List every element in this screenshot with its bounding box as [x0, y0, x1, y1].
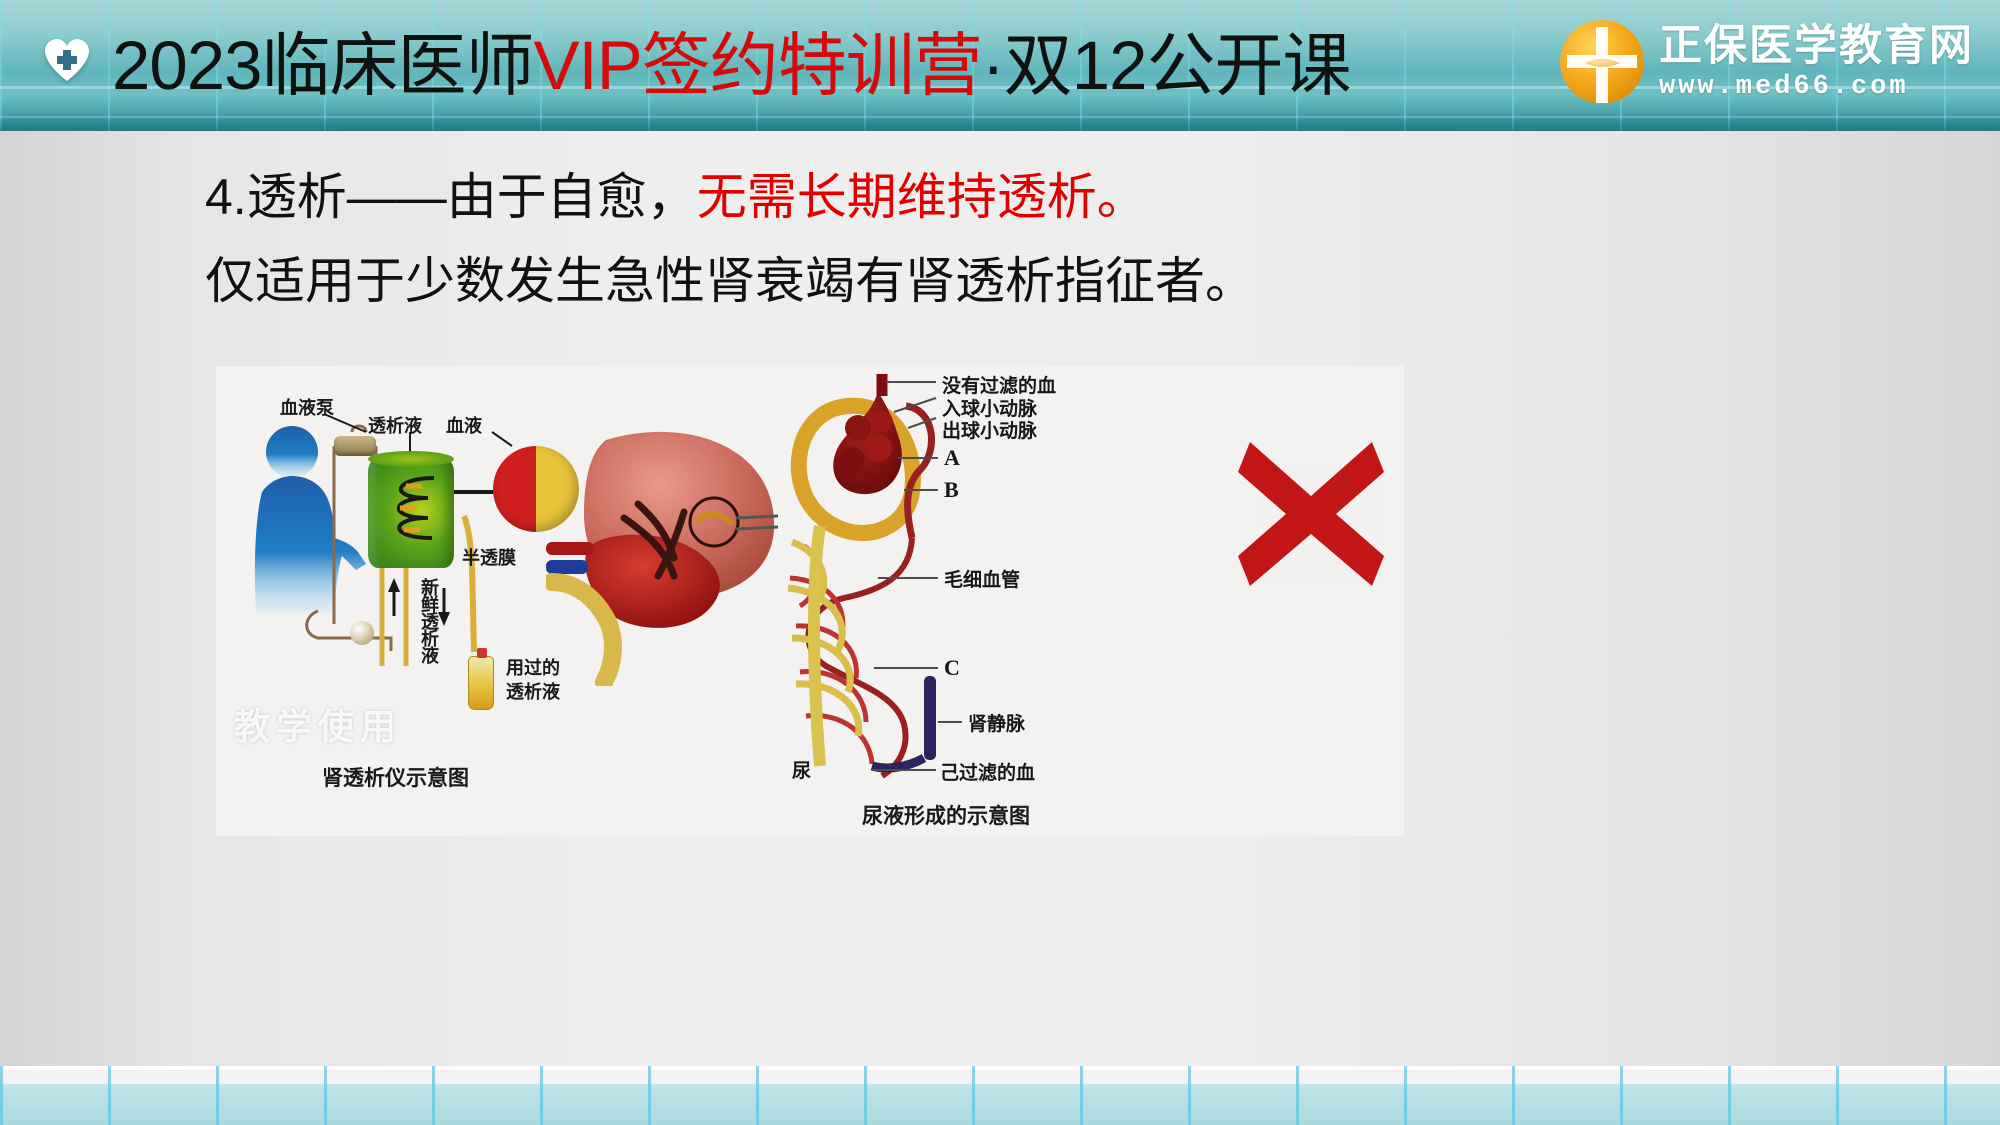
slide-body: 4.透析——由于自愈，无需长期维持透析。 仅适用于少数发生急性肾衰竭有肾透析指征… — [0, 131, 2000, 1066]
label-urine: 尿 — [792, 756, 811, 783]
page-title-red: VIP签约特训营 — [534, 27, 982, 104]
label-fresh-dialysate: 新鲜透析液 — [416, 578, 442, 704]
label-blood-pump: 血液泵 — [280, 394, 334, 420]
brand-name: 正保医学教育网 — [1659, 21, 1974, 71]
label-efferent-arteriole: 出球小动脉 — [942, 416, 1037, 443]
caption-dialysis-diagram: 肾透析仪示意图 — [322, 762, 469, 792]
label-blood: 血液 — [446, 412, 482, 438]
page-title: 2023临床医师VIP签约特训营·双12公开课 — [112, 18, 1350, 113]
content-line-1: 4.透析——由于自愈，无需长期维持透析。 — [205, 157, 1147, 229]
label-c: C — [944, 655, 960, 681]
label-renal-vein: 肾静脉 — [968, 709, 1025, 736]
caption-nephron-diagram: 尿液形成的示意图 — [862, 800, 1030, 830]
nephron-illustration: 没有过滤的血 入球小动脉 出球小动脉 A B 毛细血管 C 肾静脉 尿 己过滤的… — [786, 366, 1206, 786]
dialyzer-coil-icon — [376, 464, 446, 560]
label-filtered-blood: 己过滤的血 — [940, 758, 1035, 785]
used-dialysate-bottle-icon — [468, 656, 494, 710]
header-bottom-shadow — [0, 115, 2000, 131]
figure-image: 血液泵 透析液 血液 新鲜透析液 半透膜 用过的 透析液 教学使用 肾透析仪示意… — [216, 366, 1404, 836]
page-title-black-1: 2023临床医师 — [112, 27, 534, 104]
content-line-1-black: 4.透析——由于自愈， — [205, 169, 697, 225]
slide-root: 2023临床医师VIP签约特训营·双12公开课 — [0, 0, 2000, 1125]
watermark-text: 教学使用 — [234, 698, 402, 750]
content-line-2: 仅适用于少数发生急性肾衰竭有肾透析指征者。 — [205, 241, 1255, 313]
slide-footer — [0, 1066, 2000, 1125]
content-line-2-text: 仅适用于少数发生急性肾衰竭有肾透析指征者。 — [205, 253, 1255, 309]
footer-grid-pattern — [0, 1066, 2000, 1125]
slide-header: 2023临床医师VIP签约特训营·双12公开课 — [0, 0, 2000, 131]
heart-cross-icon — [44, 38, 90, 84]
content-line-1-red: 无需长期维持透析。 — [697, 169, 1147, 225]
page-title-black-2: ·双12公开课 — [982, 27, 1351, 104]
brand-cross-circle-icon — [1559, 19, 1645, 105]
blood-pump-icon — [334, 436, 376, 456]
label-semipermeable-membrane: 半透膜 — [462, 544, 516, 570]
brand-text-block: 正保医学教育网 www.med66.com — [1659, 21, 1974, 103]
tubing-clamp-icon — [350, 621, 374, 645]
label-b: B — [944, 477, 959, 503]
red-x-icon — [1236, 438, 1386, 588]
label-a: A — [944, 445, 960, 471]
label-dialysate: 透析液 — [368, 412, 422, 438]
brand-logo: 正保医学教育网 www.med66.com — [1559, 10, 1974, 114]
label-capillary: 毛细血管 — [944, 565, 1020, 592]
dialyzer-drum — [368, 458, 454, 568]
brand-url: www.med66.com — [1659, 71, 1974, 103]
